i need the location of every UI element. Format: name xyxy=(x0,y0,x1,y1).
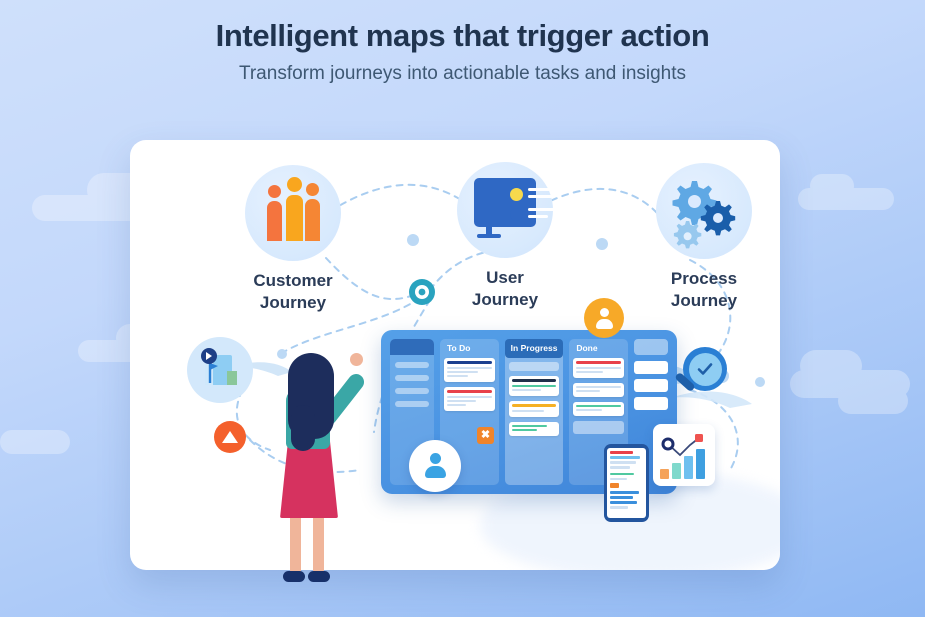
journey-icon-bubble xyxy=(457,162,553,258)
journey-label-line1: User xyxy=(435,267,575,289)
journey-node-user[interactable]: User Journey xyxy=(435,162,575,311)
magnifier-check-icon xyxy=(683,347,727,391)
card-line xyxy=(576,386,621,388)
kanban-card[interactable] xyxy=(573,383,624,397)
avatar xyxy=(584,298,624,338)
user-icon xyxy=(593,308,615,329)
journey-node-process[interactable]: Process Journey xyxy=(634,163,774,312)
kanban-card[interactable] xyxy=(509,401,560,417)
kanban-rail-item xyxy=(634,361,668,374)
mobile-device-icon xyxy=(604,444,649,522)
user-icon xyxy=(421,453,449,479)
kanban-card[interactable] xyxy=(573,402,624,416)
card-accent xyxy=(447,361,492,364)
card-line xyxy=(576,371,603,373)
map-flag-bubble xyxy=(187,337,253,403)
page-title: Intelligent maps that trigger action xyxy=(0,18,925,54)
person-hair xyxy=(291,405,315,451)
kanban-sidebar-item xyxy=(395,362,429,368)
kanban-column-title: To Do xyxy=(444,339,495,358)
kanban-sidebar-header xyxy=(390,339,434,355)
map-flag-icon xyxy=(187,337,253,403)
kanban-card[interactable] xyxy=(509,422,560,436)
journey-label-line2: Journey xyxy=(435,289,575,311)
kanban-card-ghost xyxy=(509,362,560,371)
check-icon xyxy=(695,359,715,379)
person-leg xyxy=(313,513,324,575)
kanban-card[interactable] xyxy=(509,376,560,396)
card-line xyxy=(576,405,621,407)
card-accent xyxy=(447,390,492,393)
journey-label: User Journey xyxy=(435,267,575,311)
cloud-decoration xyxy=(798,188,894,210)
journey-label-line1: Customer xyxy=(223,270,363,292)
card-line xyxy=(512,410,544,412)
card-accent xyxy=(576,361,621,364)
journey-label: Process Journey xyxy=(634,268,774,312)
kanban-card[interactable] xyxy=(444,358,495,382)
cloud-decoration xyxy=(32,195,142,221)
kanban-column-title: In Progress xyxy=(505,339,564,358)
page-subtitle: Transform journeys into actionable tasks… xyxy=(0,63,925,86)
kanban-column-title: Done xyxy=(573,339,624,358)
journey-icon-bubble xyxy=(656,163,752,259)
kanban-card-ghost xyxy=(573,421,624,434)
illustration-stage: Intelligent maps that trigger action Tra… xyxy=(0,0,925,617)
journey-node-customer[interactable]: Customer Journey xyxy=(223,165,363,314)
card-line xyxy=(512,389,541,391)
kanban-rail-header xyxy=(634,339,668,355)
journey-label-line1: Process xyxy=(634,268,774,290)
kanban-sidebar-item xyxy=(395,375,429,381)
close-icon[interactable]: ✖ xyxy=(477,427,494,444)
kanban-sidebar-item xyxy=(395,388,429,394)
card-line xyxy=(447,400,476,402)
header: Intelligent maps that trigger action Tra… xyxy=(0,18,925,85)
gears-icon xyxy=(656,163,752,259)
person-shoe xyxy=(283,571,305,582)
card-line xyxy=(447,367,492,369)
cloud-decoration xyxy=(790,370,910,398)
kanban-card[interactable] xyxy=(573,358,624,378)
card-line xyxy=(576,390,599,392)
journey-label-line2: Journey xyxy=(634,290,774,312)
card-line xyxy=(576,409,602,411)
person-leg xyxy=(290,513,301,575)
person-skirt xyxy=(280,440,338,518)
cloud-decoration xyxy=(0,430,70,454)
card-line xyxy=(576,367,621,369)
person-hand xyxy=(350,353,363,366)
kanban-column-in-progress[interactable]: In Progress xyxy=(505,339,564,485)
person-shoe xyxy=(308,571,330,582)
avatar xyxy=(409,440,461,492)
bar-chart-icon xyxy=(653,424,715,486)
kanban-rail-item xyxy=(634,379,668,392)
card-line xyxy=(447,396,492,398)
journey-label-line2: Journey xyxy=(223,292,363,314)
journey-icon-bubble xyxy=(245,165,341,261)
kanban-card[interactable] xyxy=(444,387,495,411)
card-line xyxy=(447,404,466,406)
card-line xyxy=(447,375,468,377)
card-line xyxy=(512,385,557,387)
card-accent xyxy=(512,379,557,382)
card-line xyxy=(512,429,537,431)
person-illustration xyxy=(250,345,380,595)
card-line xyxy=(447,371,478,373)
journey-label: Customer Journey xyxy=(223,270,363,314)
kanban-rail-item xyxy=(634,397,668,410)
card-line xyxy=(512,425,547,427)
kanban-sidebar-item xyxy=(395,401,429,407)
triangle-alert-icon xyxy=(214,421,246,453)
card-accent xyxy=(512,404,557,407)
